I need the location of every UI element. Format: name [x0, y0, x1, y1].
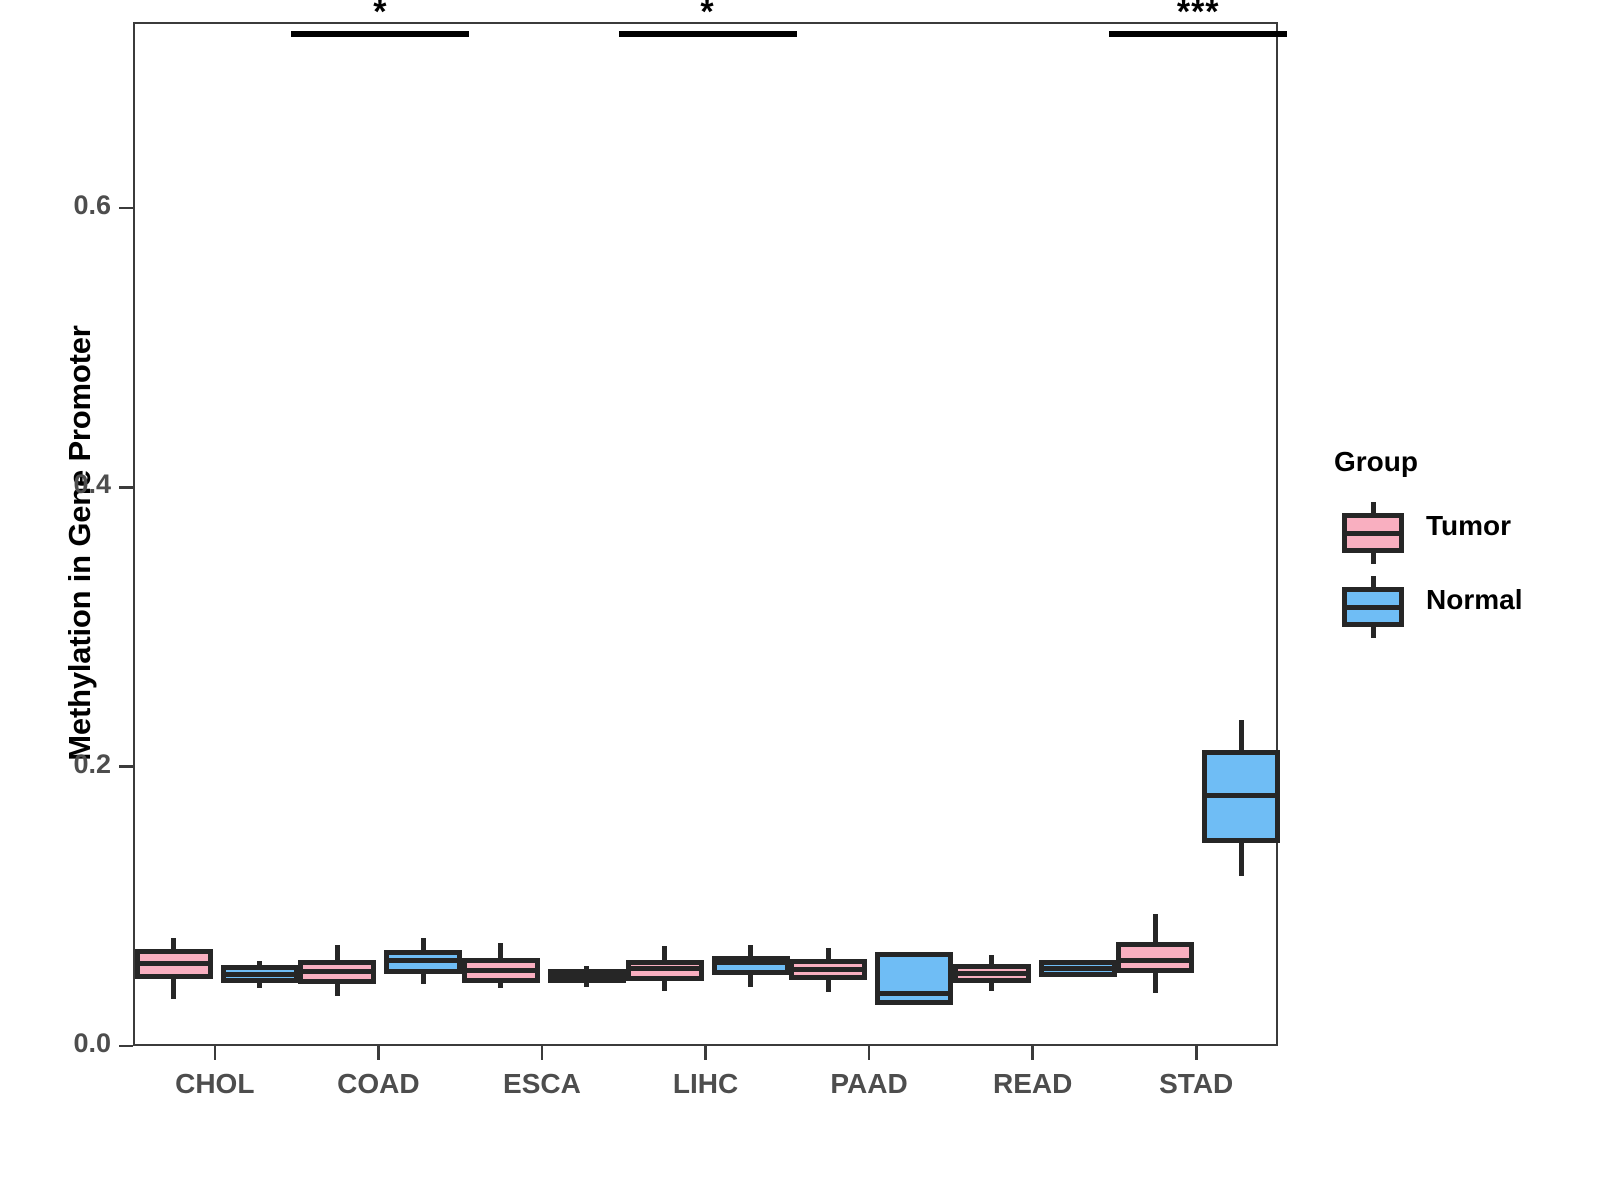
boxplot-median-line	[298, 969, 376, 974]
x-axis-tick-mark	[214, 1046, 217, 1060]
legend-key-median	[1342, 531, 1404, 536]
significance-stars: *	[291, 0, 469, 29]
boxplot-median-line	[548, 973, 626, 978]
significance-stars: *	[619, 0, 797, 29]
x-axis-tick-label: CHOL	[175, 1068, 254, 1100]
y-axis-tick-label: 0.4	[73, 469, 111, 500]
boxplot-paad-normal	[875, 950, 953, 1008]
legend-title: Group	[1334, 446, 1584, 478]
boxplot-median-line	[462, 968, 540, 973]
boxplot-chol-tumor	[135, 935, 213, 1002]
boxplot-median-line	[1039, 966, 1117, 971]
significance-stars: ***	[1109, 0, 1287, 29]
boxplot-coad-tumor	[298, 942, 376, 999]
y-axis-tick-mark	[119, 1045, 133, 1048]
y-axis-tick-mark	[119, 765, 133, 768]
boxplot-read-normal	[1039, 960, 1117, 977]
significance-bracket-coad: *	[291, 31, 469, 37]
legend-entries: TumorNormal	[1334, 496, 1584, 644]
y-axis-tick-label: 0.2	[73, 749, 111, 780]
boxplot-lihc-normal	[712, 942, 790, 989]
y-axis-title: Methylation in Gene Promoter	[62, 133, 98, 953]
boxplot-median-line	[953, 971, 1031, 976]
y-axis-tick-mark	[119, 207, 133, 210]
x-axis-tick-label: ESCA	[503, 1068, 581, 1100]
boxplot-median-line	[384, 958, 462, 963]
boxplot-median-line	[626, 966, 704, 971]
legend-item-label: Tumor	[1426, 510, 1511, 542]
boxplot-median-line	[712, 960, 790, 965]
boxplot-stad-normal	[1202, 717, 1280, 879]
boxplot-esca-normal	[548, 963, 626, 989]
boxplot-read-tumor	[953, 952, 1031, 994]
x-axis-tick-mark	[1031, 1046, 1034, 1060]
significance-bar	[1109, 31, 1287, 37]
boxplot-median-line	[789, 967, 867, 972]
legend-key-icon	[1342, 576, 1404, 638]
boxplot-stad-tumor	[1116, 911, 1194, 996]
x-axis-tick-label: COAD	[337, 1068, 419, 1100]
legend-key-icon	[1342, 502, 1404, 564]
y-axis-tick-label: 0.0	[73, 1028, 111, 1059]
boxplot-paad-tumor	[789, 945, 867, 995]
legend-item-normal[interactable]: Normal	[1334, 570, 1584, 644]
x-axis-tick-label: LIHC	[673, 1068, 738, 1100]
x-axis-tick-label: PAAD	[830, 1068, 907, 1100]
x-axis-tick-mark	[704, 1046, 707, 1060]
x-axis-tick-label: STAD	[1159, 1068, 1233, 1100]
y-axis-tick-label: 0.6	[73, 190, 111, 221]
y-axis-tick-mark	[119, 486, 133, 489]
legend: Group TumorNormal	[1334, 446, 1584, 644]
boxplot-figure: Methylation in Gene Promoter 0.00.20.40.…	[0, 0, 1600, 1200]
legend-key-median	[1342, 605, 1404, 610]
x-axis-tick-mark	[541, 1046, 544, 1060]
significance-bar	[291, 31, 469, 37]
plot-panel: *****	[133, 22, 1278, 1046]
x-axis-tick-mark	[1195, 1046, 1198, 1060]
legend-item-label: Normal	[1426, 584, 1522, 616]
significance-bracket-stad: ***	[1109, 31, 1287, 37]
x-axis-tick-label: READ	[993, 1068, 1072, 1100]
boxplot-median-line	[875, 991, 953, 996]
significance-bracket-lihc: *	[619, 31, 797, 37]
legend-item-tumor[interactable]: Tumor	[1334, 496, 1584, 570]
significance-bar	[619, 31, 797, 37]
x-axis-tick-mark	[868, 1046, 871, 1060]
boxplot-median-line	[1202, 793, 1280, 798]
boxplot-coad-normal	[384, 935, 462, 987]
boxplot-median-line	[1116, 958, 1194, 963]
boxplot-esca-tumor	[462, 940, 540, 991]
boxplot-box	[875, 952, 953, 1005]
boxplot-median-line	[221, 972, 299, 977]
boxplot-median-line	[135, 961, 213, 966]
boxplot-lihc-tumor	[626, 943, 704, 994]
x-axis-tick-mark	[377, 1046, 380, 1060]
boxplot-chol-normal	[221, 958, 299, 991]
